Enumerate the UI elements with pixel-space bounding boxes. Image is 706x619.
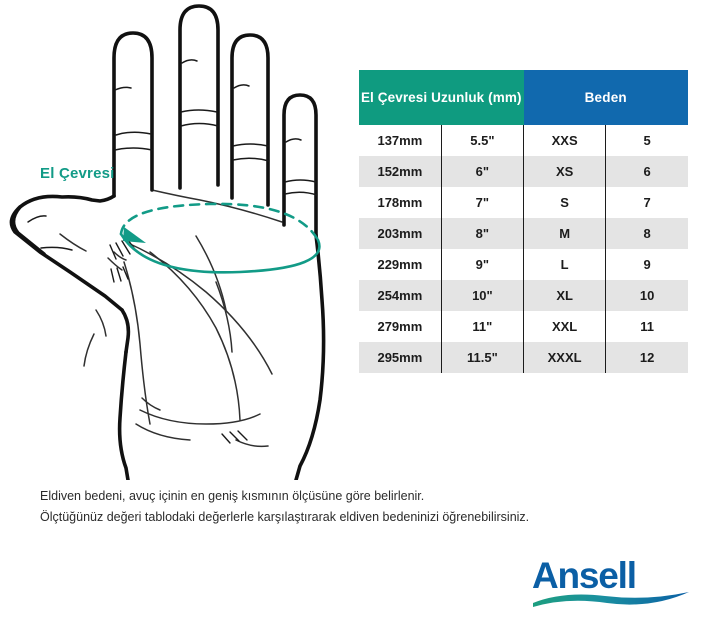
hand-illustration (0, 0, 350, 480)
cell-size-number: 5 (606, 125, 688, 156)
cell-mm: 203mm (359, 218, 441, 249)
cell-size-letter: S (524, 187, 606, 218)
cell-inch: 5.5" (441, 125, 523, 156)
cell-inch: 6" (441, 156, 523, 187)
measurement-ellipse (121, 204, 319, 272)
header-measurement: El Çevresi Uzunluk (mm) (359, 70, 524, 125)
cell-size-letter: XL (524, 280, 606, 311)
caption-line-2: Ölçtüğünüz değeri tablodaki değerlerle k… (40, 507, 680, 528)
table-row: 178mm7"S7 (359, 187, 688, 218)
table-row: 137mm5.5"XXS5 (359, 125, 688, 156)
table-row: 229mm9"L9 (359, 249, 688, 280)
measurement-arrowhead (123, 227, 146, 243)
cell-size-number: 10 (606, 280, 688, 311)
cell-mm: 254mm (359, 280, 441, 311)
cell-size-number: 11 (606, 311, 688, 342)
header-size: Beden (524, 70, 689, 125)
cell-inch: 7" (441, 187, 523, 218)
table-row: 203mm8"M8 (359, 218, 688, 249)
cell-size-letter: M (524, 218, 606, 249)
table-row: 279mm11"XXL11 (359, 311, 688, 342)
hand-outline (11, 6, 323, 480)
cell-inch: 11.5" (441, 342, 523, 373)
ansell-logo: Ansell (532, 556, 692, 611)
measurement-ellipse-dashed (121, 204, 318, 240)
cell-size-letter: XXXL (524, 342, 606, 373)
cell-size-number: 8 (606, 218, 688, 249)
glove-size-table: El Çevresi Uzunluk (mm) Beden 137mm5.5"X… (359, 70, 688, 373)
cell-mm: 279mm (359, 311, 441, 342)
wrist-hatch (222, 431, 247, 443)
table-header: El Çevresi Uzunluk (mm) Beden (359, 70, 688, 125)
cell-size-letter: XXL (524, 311, 606, 342)
thumb-web-hatch (110, 240, 137, 282)
table-row: 254mm10"XL10 (359, 280, 688, 311)
palm-crease-lines (60, 190, 282, 446)
caption-line-1: Eldiven bedeni, avuç içinin en geniş kıs… (40, 486, 680, 507)
cell-mm: 229mm (359, 249, 441, 280)
cell-size-number: 7 (606, 187, 688, 218)
finger-crease-lines (28, 60, 317, 250)
cell-size-number: 9 (606, 249, 688, 280)
cell-size-letter: XXS (524, 125, 606, 156)
cell-inch: 11" (441, 311, 523, 342)
cell-size-letter: L (524, 249, 606, 280)
hand-circumference-label: El Çevresi (40, 165, 115, 182)
cell-inch: 9" (441, 249, 523, 280)
caption: Eldiven bedeni, avuç içinin en geniş kıs… (40, 486, 680, 528)
cell-mm: 152mm (359, 156, 441, 187)
cell-size-number: 12 (606, 342, 688, 373)
cell-mm: 295mm (359, 342, 441, 373)
cell-size-number: 6 (606, 156, 688, 187)
table-row: 295mm11.5"XXXL12 (359, 342, 688, 373)
cell-inch: 10" (441, 280, 523, 311)
cell-mm: 137mm (359, 125, 441, 156)
table-row: 152mm6"XS6 (359, 156, 688, 187)
cell-mm: 178mm (359, 187, 441, 218)
cell-inch: 8" (441, 218, 523, 249)
table-body: 137mm5.5"XXS5152mm6"XS6178mm7"S7203mm8"M… (359, 125, 688, 373)
cell-size-letter: XS (524, 156, 606, 187)
ansell-swoosh-icon (529, 589, 694, 609)
